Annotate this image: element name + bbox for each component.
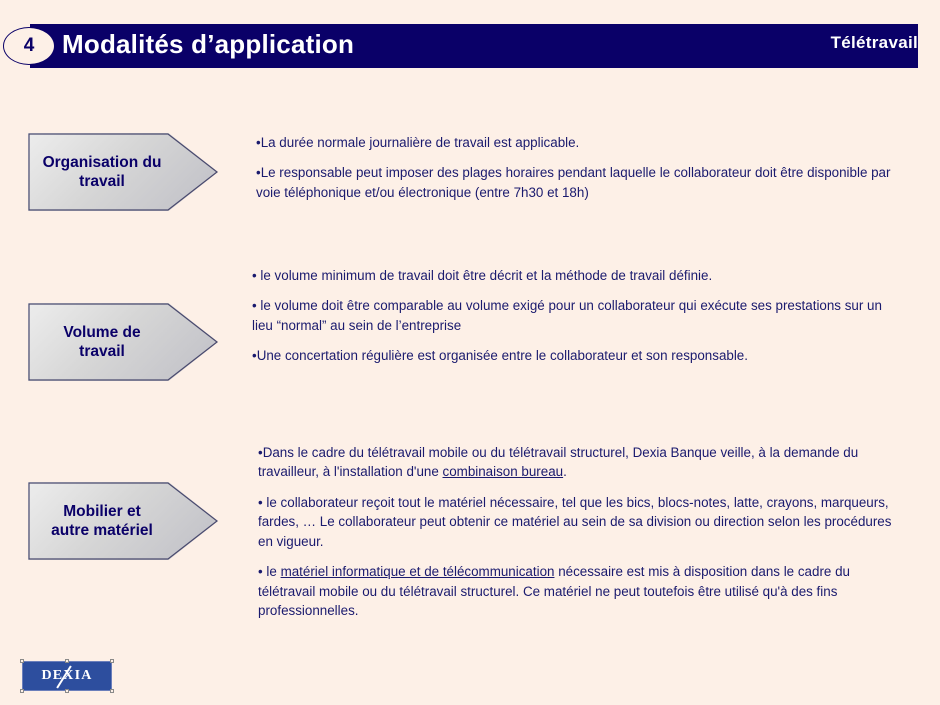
- slide-canvas: Modalités d’application Télétravail 4 Or…: [0, 0, 940, 705]
- bullet-paragraph: •Le responsable peut imposer des plages …: [256, 163, 902, 202]
- chevron-outline: [28, 133, 218, 211]
- chevron-organisation-du-travail: Organisation du travail: [28, 133, 218, 211]
- underlined-term: combinaison bureau: [443, 464, 564, 479]
- text-block-mobilier: •Dans le cadre du télétravail mobile ou …: [258, 443, 896, 621]
- paragraph-lead: • le: [258, 564, 281, 579]
- selection-handle[interactable]: [20, 689, 24, 693]
- logo-text: DEXIA: [23, 662, 111, 690]
- bullet-paragraph: •Dans le cadre du télétravail mobile ou …: [258, 443, 896, 482]
- chevron-mobilier-et-autre-materiel: Mobilier et autre matériel: [28, 482, 218, 560]
- bullet-paragraph: • le volume doit être comparable au volu…: [252, 296, 904, 335]
- text-block-volume: • le volume minimum de travail doit être…: [252, 266, 904, 366]
- chevron-outline: [28, 303, 218, 381]
- paragraph-tail: .: [563, 464, 567, 479]
- text-block-organisation: •La durée normale journalière de travail…: [256, 133, 902, 202]
- selection-handle[interactable]: [65, 659, 69, 663]
- page-title: Modalités d’application: [62, 29, 354, 60]
- chevron-outline: [28, 482, 218, 560]
- selection-handle[interactable]: [110, 659, 114, 663]
- bullet-paragraph: •Une concertation régulière est organisé…: [252, 346, 904, 365]
- bullet-paragraph: • le volume minimum de travail doit être…: [252, 266, 904, 285]
- header-topic-label: Télétravail: [831, 33, 918, 53]
- selection-handle[interactable]: [65, 689, 69, 693]
- dexia-logo: DEXIA: [22, 661, 112, 691]
- step-number-badge: 4: [3, 27, 55, 65]
- bullet-paragraph: •La durée normale journalière de travail…: [256, 133, 902, 152]
- selection-handle[interactable]: [20, 659, 24, 663]
- bullet-paragraph: • le matériel informatique et de télécom…: [258, 562, 896, 620]
- selection-handle[interactable]: [110, 689, 114, 693]
- bullet-paragraph: • le collaborateur reçoit tout le matéri…: [258, 493, 896, 551]
- chevron-volume-de-travail: Volume de travail: [28, 303, 218, 381]
- underlined-term: matériel informatique et de télécommunic…: [281, 564, 555, 579]
- paragraph-lead: • le collaborateur reçoit tout le matéri…: [258, 495, 891, 549]
